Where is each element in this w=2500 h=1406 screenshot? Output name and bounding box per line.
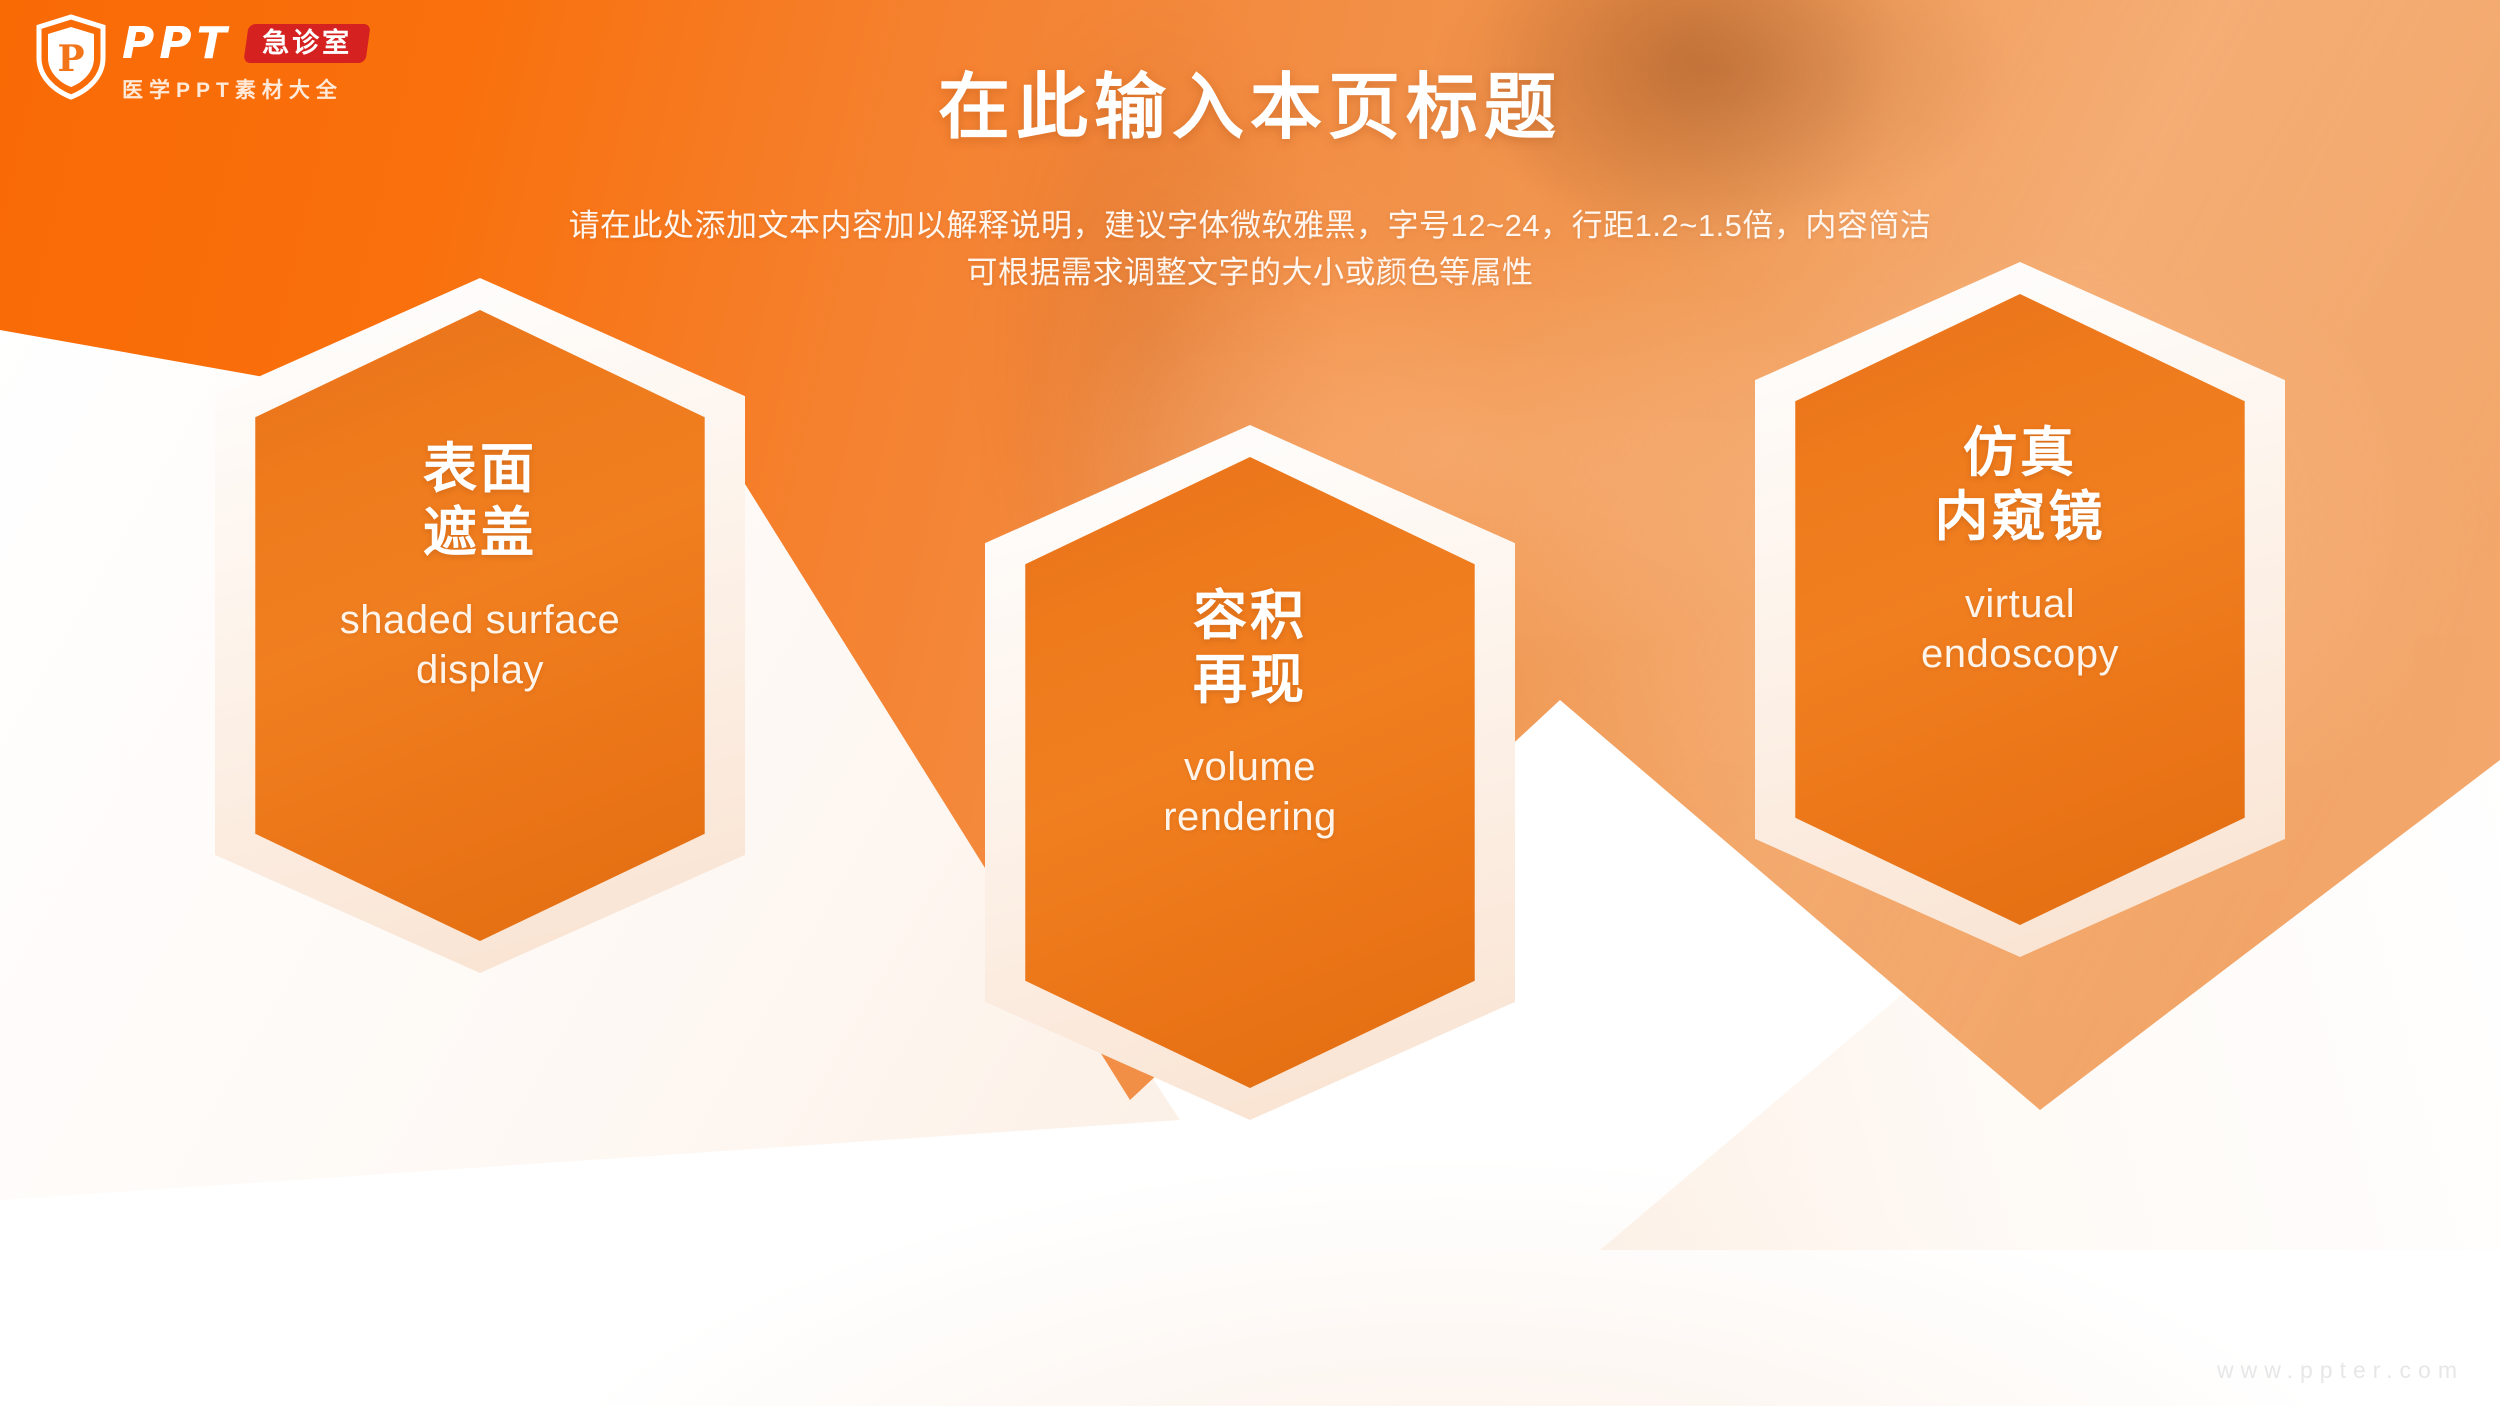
card-title-cn-1: 表面 遮盖 (423, 438, 537, 565)
hexagon-fill-3: 仿真 内窥镜 virtual endoscopy (1795, 294, 2244, 925)
card-title-en-2: volume rendering (1163, 742, 1337, 842)
card-title-en-1: shaded surface display (340, 595, 621, 695)
hexagon-outline-2: 容积 再现 volume rendering (985, 425, 1515, 1120)
card-title-en-3: virtual endoscopy (1921, 579, 2119, 679)
subtitle-line-1: 请在此处添加文本内容加以解释说明，建议字体微软雅黑，字号12~24，行距1.2~… (270, 202, 2230, 249)
page-title: 在此输入本页标题 (0, 48, 2500, 153)
hexagon-fill-1: 表面 遮盖 shaded surface display (255, 310, 704, 941)
slide-canvas: P PPT 急诊室 医学PPT素材大全 在此输入本页标题 请在此处添加文本内容加… (0, 0, 2500, 1406)
card-title-cn-2: 容积 再现 (1193, 585, 1307, 712)
hexagon-card-2[interactable]: 容积 再现 volume rendering (985, 425, 1515, 1120)
hexagon-outline-3: 仿真 内窥镜 virtual endoscopy (1755, 262, 2285, 957)
footer-watermark: www.ppter.com (2217, 1357, 2464, 1384)
hexagon-outline-1: 表面 遮盖 shaded surface display (215, 278, 745, 973)
hexagon-card-1[interactable]: 表面 遮盖 shaded surface display (215, 278, 745, 973)
card-title-cn-3: 仿真 内窥镜 (1934, 422, 2105, 549)
hexagon-card-3[interactable]: 仿真 内窥镜 virtual endoscopy (1755, 262, 2285, 957)
hexagon-fill-2: 容积 再现 volume rendering (1025, 457, 1474, 1088)
